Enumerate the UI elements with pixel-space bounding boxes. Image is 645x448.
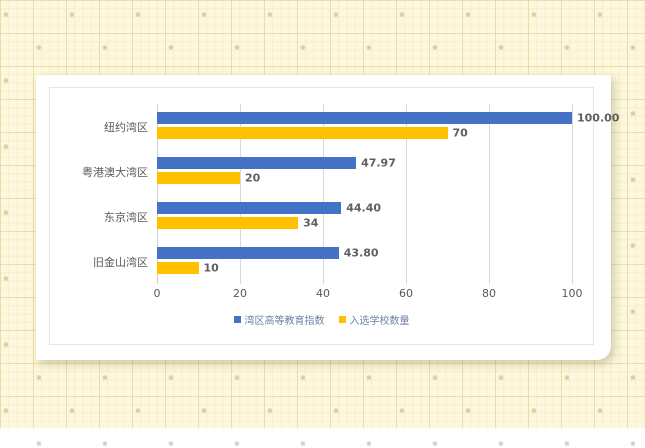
chart-frame: 纽约湾区100.0070粤港澳大湾区47.9720东京湾区44.4034旧金山湾… xyxy=(49,87,594,345)
paper-mark-icon: ※ xyxy=(531,12,537,19)
paper-mark-icon: ※ xyxy=(168,375,174,382)
bar-value-label: 43.80 xyxy=(344,247,379,260)
paper-mark-icon: ※ xyxy=(300,441,306,448)
paper-mark-icon: ※ xyxy=(102,441,108,448)
bar-value-label: 70 xyxy=(453,127,468,140)
paper-mark-icon: ※ xyxy=(201,408,207,415)
bar-1-1[interactable]: 20 xyxy=(157,172,240,184)
paper-mark-icon: ※ xyxy=(3,408,9,415)
paper-mark-icon: ※ xyxy=(366,375,372,382)
paper-mark-icon: ※ xyxy=(597,12,603,19)
chart-card: 纽约湾区100.0070粤港澳大湾区47.9720东京湾区44.4034旧金山湾… xyxy=(36,75,611,360)
paper-mark-icon: ※ xyxy=(102,375,108,382)
paper-mark-icon: ※ xyxy=(3,12,9,19)
paper-mark-icon: ※ xyxy=(366,441,372,448)
category-row: 粤港澳大湾区47.9720 xyxy=(157,149,645,194)
category-row: 纽约湾区100.0070 xyxy=(157,104,645,149)
legend-label: 入选学校数量 xyxy=(350,312,410,327)
paper-mark-icon: ※ xyxy=(366,45,372,52)
paper-mark-icon: ※ xyxy=(630,45,636,52)
category-label: 旧金山湾区 xyxy=(93,254,148,270)
x-tick-label: 80 xyxy=(482,287,496,300)
bar-value-label: 100.00 xyxy=(577,112,619,125)
paper-mark-icon: ※ xyxy=(498,45,504,52)
paper-mark-icon: ※ xyxy=(531,408,537,415)
paper-mark-icon: ※ xyxy=(234,375,240,382)
bar-0-3[interactable]: 43.80 xyxy=(157,247,339,259)
paper-mark-icon: ※ xyxy=(3,276,9,283)
bar-1-2[interactable]: 34 xyxy=(157,217,298,229)
category-row: 旧金山湾区43.8010 xyxy=(157,239,645,284)
paper-mark-icon: ※ xyxy=(267,12,273,19)
legend-swatch-icon xyxy=(339,316,346,323)
paper-mark-icon: ※ xyxy=(3,144,9,151)
paper-mark-icon: ※ xyxy=(135,408,141,415)
bar-0-0[interactable]: 100.00 xyxy=(157,112,572,124)
page-background: ※※※※※※※※※※※※※※※※※※※※※※※※※※※※※※※※※※※※※※※※… xyxy=(0,0,645,428)
paper-mark-icon: ※ xyxy=(630,441,636,448)
bar-value-label: 44.40 xyxy=(346,202,381,215)
paper-mark-icon: ※ xyxy=(300,45,306,52)
paper-mark-icon: ※ xyxy=(234,441,240,448)
x-tick-label: 40 xyxy=(316,287,330,300)
paper-mark-icon: ※ xyxy=(564,375,570,382)
paper-mark-icon: ※ xyxy=(564,45,570,52)
paper-mark-icon: ※ xyxy=(630,375,636,382)
paper-mark-icon: ※ xyxy=(135,12,141,19)
paper-mark-icon: ※ xyxy=(465,408,471,415)
paper-mark-icon: ※ xyxy=(300,375,306,382)
paper-mark-icon: ※ xyxy=(564,441,570,448)
paper-mark-icon: ※ xyxy=(168,441,174,448)
category-label: 粤港澳大湾区 xyxy=(82,164,148,180)
x-tick-label: 20 xyxy=(233,287,247,300)
paper-mark-icon: ※ xyxy=(69,12,75,19)
chart-legend: 湾区高等教育指数入选学校数量 xyxy=(50,312,593,327)
paper-mark-icon: ※ xyxy=(3,78,9,85)
x-tick-label: 100 xyxy=(562,287,583,300)
bar-0-2[interactable]: 44.40 xyxy=(157,202,341,214)
bar-value-label: 10 xyxy=(204,262,219,275)
paper-mark-icon: ※ xyxy=(399,12,405,19)
bar-1-0[interactable]: 70 xyxy=(157,127,448,139)
legend-label: 湾区高等教育指数 xyxy=(245,312,325,327)
paper-mark-icon: ※ xyxy=(333,408,339,415)
bar-value-label: 20 xyxy=(245,172,260,185)
legend-swatch-icon xyxy=(234,316,241,323)
x-tick-label: 0 xyxy=(154,287,161,300)
x-tick-label: 60 xyxy=(399,287,413,300)
paper-mark-icon: ※ xyxy=(234,45,240,52)
legend-item-1[interactable]: 入选学校数量 xyxy=(339,312,410,327)
x-axis: 020406080100 xyxy=(157,284,572,304)
category-label: 纽约湾区 xyxy=(104,119,148,135)
paper-mark-icon: ※ xyxy=(36,45,42,52)
paper-mark-icon: ※ xyxy=(432,45,438,52)
category-row: 东京湾区44.4034 xyxy=(157,194,645,239)
paper-mark-icon: ※ xyxy=(3,210,9,217)
paper-mark-icon: ※ xyxy=(399,408,405,415)
paper-mark-icon: ※ xyxy=(69,408,75,415)
category-label: 东京湾区 xyxy=(104,209,148,225)
paper-mark-icon: ※ xyxy=(630,309,636,316)
paper-mark-icon: ※ xyxy=(432,375,438,382)
bar-value-label: 34 xyxy=(303,217,318,230)
paper-mark-icon: ※ xyxy=(432,441,438,448)
paper-mark-icon: ※ xyxy=(333,12,339,19)
paper-mark-icon: ※ xyxy=(267,408,273,415)
paper-mark-icon: ※ xyxy=(201,12,207,19)
paper-mark-icon: ※ xyxy=(168,45,174,52)
legend-item-0[interactable]: 湾区高等教育指数 xyxy=(234,312,325,327)
paper-mark-icon: ※ xyxy=(3,342,9,349)
bar-0-1[interactable]: 47.97 xyxy=(157,157,356,169)
paper-mark-icon: ※ xyxy=(36,441,42,448)
paper-mark-icon: ※ xyxy=(465,12,471,19)
paper-mark-icon: ※ xyxy=(102,45,108,52)
plot-area: 纽约湾区100.0070粤港澳大湾区47.9720东京湾区44.4034旧金山湾… xyxy=(157,104,572,284)
paper-mark-icon: ※ xyxy=(597,408,603,415)
paper-mark-icon: ※ xyxy=(498,375,504,382)
paper-mark-icon: ※ xyxy=(36,375,42,382)
paper-mark-icon: ※ xyxy=(498,441,504,448)
bar-value-label: 47.97 xyxy=(361,157,396,170)
bar-1-3[interactable]: 10 xyxy=(157,262,199,274)
